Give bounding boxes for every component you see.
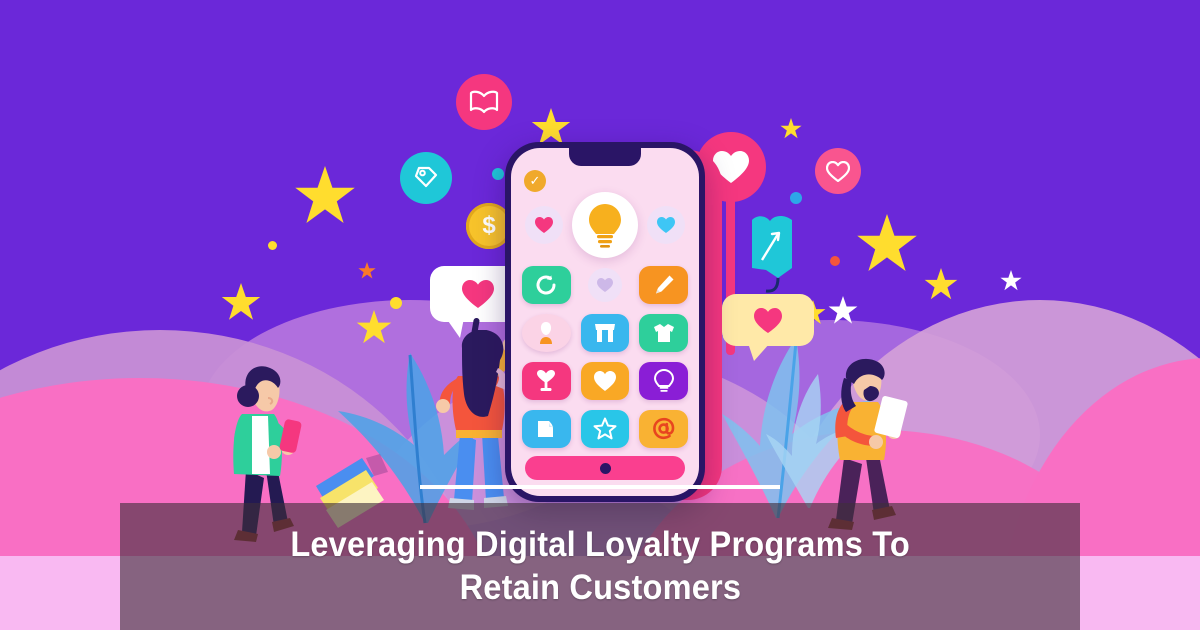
idea-app-icon[interactable]	[639, 362, 688, 400]
refresh-app-icon[interactable]	[522, 266, 571, 304]
dot-cyan	[492, 168, 504, 180]
heart-bubble-blue-icon	[647, 206, 685, 244]
tag-bubble-icon	[400, 152, 452, 204]
star-app-icon[interactable]	[581, 410, 630, 448]
home-dot-icon	[600, 463, 611, 474]
check-glyph: ✓	[530, 173, 541, 189]
edit-app-icon[interactable]	[639, 266, 688, 304]
caption-line-2: Retain Customers	[459, 568, 741, 609]
coin-currency-glyph: $	[482, 214, 495, 238]
heart-app-icon[interactable]	[581, 362, 630, 400]
dot-red	[830, 256, 840, 266]
app-grid[interactable]	[522, 266, 688, 448]
home-bar[interactable]	[525, 456, 685, 480]
heart-bubble-pink-icon	[525, 206, 563, 244]
shirt-app-icon[interactable]	[639, 314, 688, 352]
white-divider-rule	[420, 485, 780, 489]
mail-app-icon[interactable]	[639, 410, 688, 448]
caption-line-1: Leveraging Digital Loyalty Programs To	[290, 525, 910, 566]
check-badge-icon: ✓	[524, 170, 546, 192]
heart-ghost-icon	[581, 266, 630, 304]
hero-illustration: $	[0, 0, 1200, 630]
trophy-app-icon[interactable]	[522, 362, 571, 400]
phone-mockup[interactable]: ✓	[505, 142, 705, 502]
dot-yellow	[390, 297, 402, 309]
speech-bubble-heart-yellow	[722, 294, 814, 346]
book-bubble-icon	[456, 74, 512, 130]
heart-bubble-small-icon	[815, 148, 861, 194]
dot-yellow	[268, 241, 277, 250]
lightbulb-icon	[572, 192, 638, 258]
phone-notch	[569, 148, 641, 166]
store-app-icon[interactable]	[581, 314, 630, 352]
phone-screen[interactable]: ✓	[511, 148, 699, 496]
caption: Leveraging Digital Loyalty Programs To R…	[120, 503, 1080, 630]
tag-app-icon[interactable]	[522, 410, 571, 448]
umbrella-tag-icon	[748, 212, 802, 303]
badge-app-icon[interactable]	[522, 314, 571, 352]
dot-blue	[790, 192, 802, 204]
